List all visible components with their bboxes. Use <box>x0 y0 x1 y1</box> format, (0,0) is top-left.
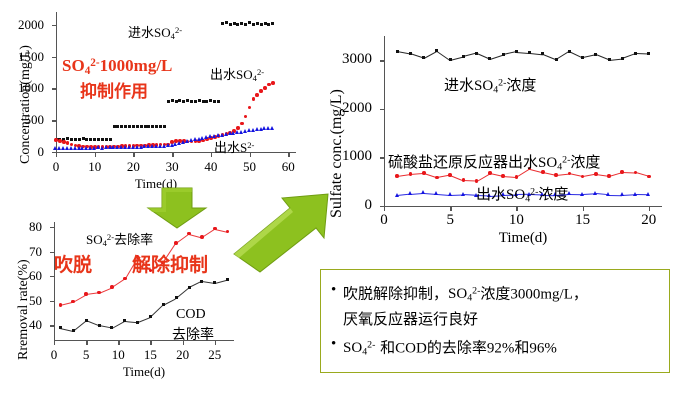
data-point <box>198 99 201 102</box>
y-tick <box>52 120 57 121</box>
x-tick <box>649 206 650 211</box>
data-point <box>634 171 638 175</box>
data-point <box>209 99 212 102</box>
x-tick-label: 5 <box>70 348 102 361</box>
data-point <box>226 278 229 281</box>
data-point <box>462 55 465 58</box>
data-point <box>620 192 624 196</box>
series-line-segment <box>176 287 189 298</box>
y-tick <box>380 60 385 61</box>
data-point <box>255 93 259 97</box>
x-tick <box>86 340 87 345</box>
data-point <box>175 296 178 299</box>
bullet-item-1: • 吹脱解除抑制，SO42-浓度3000mg/L， 厌氧反应器运行良好 <box>331 282 588 329</box>
y-tick <box>380 109 385 110</box>
data-point <box>132 125 135 128</box>
x-tick-label: 30 <box>156 160 188 173</box>
data-point <box>593 191 597 195</box>
x-tick-label: 15 <box>134 348 166 361</box>
data-point <box>144 125 147 128</box>
x-tick <box>95 152 96 157</box>
y-tick <box>52 57 57 58</box>
y-tick <box>380 157 385 158</box>
x-tick-label: 10 <box>500 214 532 227</box>
data-point <box>71 300 75 304</box>
data-point <box>78 138 81 141</box>
data-point <box>581 175 585 179</box>
chart-top-left: Concentration(mg/L) 05001000150020000102… <box>0 4 320 194</box>
data-point <box>59 326 62 329</box>
chart-bottom-left-callout-release: 解除抑制 <box>132 250 208 277</box>
data-point <box>568 50 571 53</box>
data-point <box>581 56 584 59</box>
x-tick <box>133 152 134 157</box>
data-point <box>409 52 412 55</box>
data-point <box>72 329 75 332</box>
data-point <box>85 319 88 322</box>
y-tick-label: 2000 <box>328 102 372 115</box>
x-tick <box>583 206 584 211</box>
data-point <box>124 125 127 128</box>
data-point <box>97 291 101 295</box>
bullet-item-1-line-1: 吹脱解除抑制，SO42-浓度3000mg/L， <box>343 282 588 309</box>
data-point <box>101 138 104 141</box>
bullet-item-2: • SO42- 和COD的去除率92%和96% <box>331 336 557 363</box>
data-point <box>594 53 597 56</box>
data-point <box>147 125 150 128</box>
data-point <box>113 125 116 128</box>
data-point <box>59 303 63 307</box>
x-tick <box>150 340 151 345</box>
data-point <box>248 21 251 24</box>
chart-right: Sulfate conc.(mg/L) 01000200030000510152… <box>318 22 674 254</box>
data-point <box>515 50 518 53</box>
data-point <box>105 138 108 141</box>
data-point <box>606 192 610 196</box>
data-point <box>159 125 162 128</box>
chart-top-left-label-influent: 进水SO42- <box>128 22 182 41</box>
data-point <box>178 99 181 102</box>
y-tick <box>50 227 55 228</box>
y-tick-label: 1500 <box>4 50 44 63</box>
chart-right-label-influent: 进水SO42-浓度 <box>444 74 536 95</box>
x-tick <box>172 152 173 157</box>
x-tick <box>384 206 385 211</box>
x-tick-label: 20 <box>117 160 149 173</box>
data-point <box>93 138 96 141</box>
series-line-segment <box>73 320 86 331</box>
data-point <box>175 100 178 103</box>
data-point <box>171 99 174 102</box>
bullet-marker: • <box>331 336 343 363</box>
x-tick-label: 25 <box>199 348 231 361</box>
data-point <box>82 137 85 140</box>
data-point <box>488 57 491 60</box>
data-point <box>136 125 139 128</box>
chart-bottom-left-callout-stripping: 吹脱 <box>54 250 92 277</box>
data-point <box>217 100 220 103</box>
data-point <box>270 126 274 130</box>
data-point <box>66 141 70 145</box>
x-tick <box>450 206 451 211</box>
y-tick-label: 1000 <box>328 150 372 163</box>
data-point <box>594 172 598 176</box>
chart-bottom-left-xlabel: Time(d) <box>104 364 184 380</box>
x-tick <box>516 206 517 211</box>
x-tick-label: 15 <box>567 214 599 227</box>
y-tick-label: 500 <box>4 113 44 126</box>
chart-bottom-left-label-cod-2: 去除率 <box>172 324 214 344</box>
data-point <box>233 22 236 25</box>
data-point <box>182 100 185 103</box>
data-point <box>541 52 544 55</box>
y-tick-label: 0 <box>328 199 372 212</box>
chart-top-left-callout-line2: 抑制作用 <box>80 77 148 102</box>
data-point <box>85 138 88 141</box>
data-point <box>163 125 166 128</box>
data-point <box>271 22 274 25</box>
data-point <box>634 52 637 55</box>
data-point <box>229 23 232 26</box>
data-point <box>580 192 584 196</box>
data-point <box>252 23 255 26</box>
data-point <box>236 23 239 26</box>
data-point <box>225 21 228 24</box>
bullet-item-1-text: 吹脱解除抑制，SO42-浓度3000mg/L， 厌氧反应器运行良好 <box>343 282 588 329</box>
summary-box: • 吹脱解除抑制，SO42-浓度3000mg/L， 厌氧反应器运行良好 • SO… <box>320 269 670 373</box>
y-tick-label: 80 <box>18 220 42 233</box>
data-point <box>244 23 247 26</box>
data-point <box>244 115 248 119</box>
data-point <box>162 303 165 306</box>
x-tick <box>56 152 57 157</box>
data-point <box>74 138 77 141</box>
data-point <box>240 22 243 25</box>
data-point <box>528 51 531 54</box>
data-point <box>226 230 230 234</box>
data-point <box>123 319 126 322</box>
x-tick <box>211 152 212 157</box>
x-tick <box>118 340 119 345</box>
data-point <box>110 326 113 329</box>
data-point <box>188 286 191 289</box>
data-point <box>110 285 114 289</box>
x-tick-label: 60 <box>272 160 304 173</box>
data-point <box>395 174 399 178</box>
data-point <box>448 173 452 177</box>
data-point <box>647 52 650 55</box>
series-line-segment <box>150 305 164 318</box>
data-point <box>97 138 100 141</box>
data-point <box>213 227 217 231</box>
data-point <box>194 100 197 103</box>
data-point <box>187 232 191 236</box>
data-point <box>395 193 399 197</box>
data-point <box>109 138 112 141</box>
data-point <box>200 235 204 239</box>
bullet-item-2-line-1: SO42- 和COD的去除率92%和96% <box>343 336 557 363</box>
chart-bottom-left-label-sulfate-removal: SO42-去除率 <box>86 229 153 248</box>
data-point <box>186 99 189 102</box>
data-point <box>263 86 267 90</box>
y-tick <box>50 325 55 326</box>
x-tick-label: 10 <box>102 348 134 361</box>
y-tick-label: 40 <box>18 318 42 331</box>
y-tick-label: 60 <box>18 269 42 282</box>
data-point <box>271 81 275 85</box>
bullet-marker: • <box>331 282 343 329</box>
data-point <box>174 241 178 245</box>
arrow-up-right-icon <box>232 192 334 274</box>
y-tick <box>52 25 57 26</box>
y-tick-label: 3000 <box>328 53 372 66</box>
data-point <box>221 22 224 25</box>
x-tick-label: 50 <box>234 160 266 173</box>
data-point <box>515 175 519 179</box>
data-point <box>123 277 127 281</box>
y-tick <box>52 88 57 89</box>
x-tick-label: 0 <box>38 348 70 361</box>
data-point <box>260 23 263 26</box>
data-point <box>620 170 624 174</box>
data-point <box>70 138 73 141</box>
chart-right-label-effluent: 出水SO42-浓度 <box>476 183 568 204</box>
data-point <box>461 192 465 196</box>
data-point <box>155 125 158 128</box>
slide-canvas: Concentration(mg/L) 05001000150020000102… <box>0 0 674 406</box>
y-tick-label: 0 <box>4 145 44 158</box>
chart-top-left-label-effluent-sulfate: 出水SO42- <box>210 64 264 83</box>
data-point <box>264 22 267 25</box>
data-point <box>608 58 611 61</box>
data-point <box>151 125 154 128</box>
data-point <box>252 97 256 101</box>
data-point <box>421 190 425 194</box>
data-point <box>205 100 208 103</box>
data-point <box>136 321 139 324</box>
arrow-down-icon <box>146 186 208 230</box>
y-axis <box>54 222 55 340</box>
data-point <box>647 175 651 179</box>
data-point <box>646 192 650 196</box>
x-tick <box>288 152 289 157</box>
data-point <box>202 100 205 103</box>
y-tick-label: 50 <box>18 294 42 307</box>
data-point <box>434 191 438 195</box>
bullet-item-2-text: SO42- 和COD的去除率92%和96% <box>343 336 557 363</box>
data-point <box>435 176 439 180</box>
data-point <box>501 174 505 178</box>
chart-bottom-left-label-cod-1: COD <box>176 307 206 323</box>
x-tick <box>54 340 55 345</box>
y-tick-label: 2000 <box>4 18 44 31</box>
data-point <box>66 137 69 140</box>
chart-right-plot: 010002000300005101520 <box>384 36 662 206</box>
data-point <box>259 89 263 93</box>
x-axis <box>56 152 296 153</box>
chart-right-label-reactor-effluent: 硫酸盐还原反应器出水SO42-浓度 <box>388 151 600 172</box>
data-point <box>149 315 152 318</box>
data-point <box>128 125 131 128</box>
y-tick-label: 70 <box>18 245 42 258</box>
data-point <box>89 138 92 141</box>
data-point <box>140 125 143 128</box>
x-tick-label: 40 <box>195 160 227 173</box>
data-point <box>120 125 123 128</box>
data-point <box>213 100 216 103</box>
y-tick-label: 1000 <box>4 81 44 94</box>
x-tick-label: 0 <box>40 160 72 173</box>
data-point <box>167 100 170 103</box>
data-point <box>248 106 252 110</box>
data-point <box>475 52 478 55</box>
y-axis <box>56 12 57 152</box>
data-point <box>213 281 216 284</box>
data-point <box>84 292 88 296</box>
x-tick-label: 20 <box>633 214 665 227</box>
data-point <box>607 174 611 178</box>
data-point <box>448 192 452 196</box>
x-tick-label: 20 <box>167 348 199 361</box>
chart-right-xlabel: Time(d) <box>483 230 563 247</box>
data-point <box>462 178 466 182</box>
chart-top-left-label-effluent-sulfide: 出水S2- <box>214 137 254 156</box>
data-point <box>621 57 624 60</box>
x-tick-label: 5 <box>434 214 466 227</box>
y-tick <box>50 301 55 302</box>
data-point <box>62 140 66 144</box>
x-tick <box>215 340 216 345</box>
x-tick-label: 10 <box>79 160 111 173</box>
data-point <box>408 191 412 195</box>
x-tick-label: 0 <box>368 214 400 227</box>
data-point <box>256 22 259 25</box>
data-point <box>449 58 452 61</box>
data-point <box>422 56 425 59</box>
data-point <box>555 58 558 61</box>
data-point <box>396 50 399 53</box>
data-point <box>633 192 637 196</box>
chart-top-left-callout-line1: SO42-1000mg/L <box>62 56 172 77</box>
data-point <box>475 179 479 183</box>
data-point <box>435 49 438 52</box>
data-point <box>409 172 413 176</box>
data-point <box>200 280 203 283</box>
data-point <box>116 125 119 128</box>
data-point <box>267 23 270 26</box>
data-point <box>190 100 193 103</box>
data-point <box>554 173 558 177</box>
data-point <box>240 122 244 126</box>
data-point <box>502 53 505 56</box>
bullet-item-1-line-2: 厌氧反应器运行良好 <box>343 309 588 329</box>
data-point <box>98 324 101 327</box>
x-axis <box>384 206 662 207</box>
